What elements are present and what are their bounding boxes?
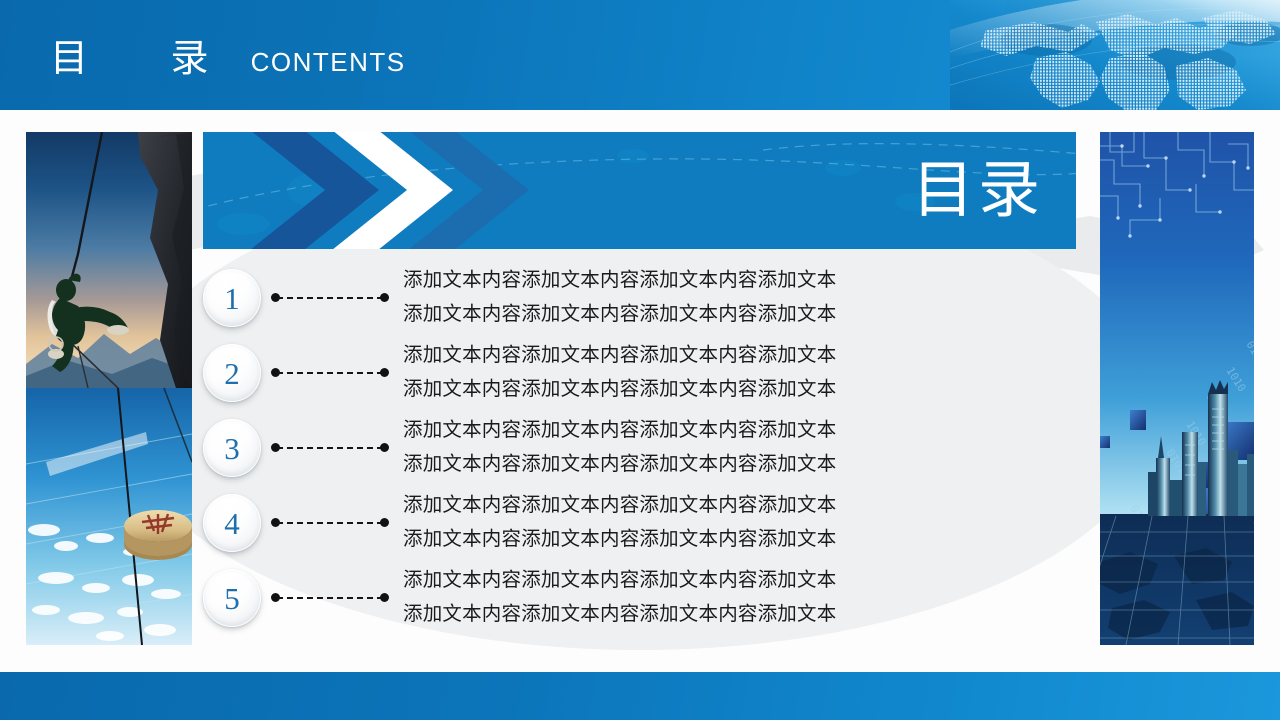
item-number-badge[interactable]: 1 (203, 269, 261, 327)
dashed-connector (271, 517, 389, 529)
item-number-badge[interactable]: 4 (203, 494, 261, 552)
item-text-line1: 添加文本内容添加文本内容添加文本内容添加文本 (403, 339, 836, 373)
technology-city-skyline-graphic: 0101 1010 0101 1010 0101 1010 0101 (1100, 132, 1254, 645)
section-banner: 目录 (203, 132, 1076, 249)
banner-title: 目录 (912, 160, 1044, 222)
item-text-line2: 添加文本内容添加文本内容添加文本内容添加文本 (403, 298, 836, 332)
connector-dot-right (380, 518, 389, 527)
contents-list: 1 添加文本内容添加文本内容添加文本内容添加文本 添加文本内容添加文本内容添加文… (203, 258, 1083, 646)
rock-climber-and-sky-photo (26, 132, 192, 645)
connector-dash (277, 597, 383, 599)
item-number-badge[interactable]: 2 (203, 344, 261, 402)
connector-dash (277, 372, 383, 374)
slide-canvas: 目 录 CONTENTS (0, 0, 1280, 720)
item-text-line1: 添加文本内容添加文本内容添加文本内容添加文本 (403, 264, 836, 298)
slide-footer (0, 672, 1280, 720)
page-title: 目 录 CONTENTS (50, 40, 406, 78)
item-text-line1: 添加文本内容添加文本内容添加文本内容添加文本 (403, 564, 836, 598)
connector-dot-right (380, 293, 389, 302)
page-title-en: CONTENTS (251, 47, 406, 77)
connector-dash (277, 447, 383, 449)
item-text-line1: 添加文本内容添加文本内容添加文本内容添加文本 (403, 414, 836, 448)
item-text-line2: 添加文本内容添加文本内容添加文本内容添加文本 (403, 373, 836, 407)
dashed-connector (271, 592, 389, 604)
item-text-block: 添加文本内容添加文本内容添加文本内容添加文本 添加文本内容添加文本内容添加文本内… (403, 264, 836, 332)
dashed-connector (271, 367, 389, 379)
item-text-line2: 添加文本内容添加文本内容添加文本内容添加文本 (403, 448, 836, 482)
slide-header: 目 录 CONTENTS (0, 0, 1280, 110)
item-text-line2: 添加文本内容添加文本内容添加文本内容添加文本 (403, 598, 836, 632)
list-item[interactable]: 3 添加文本内容添加文本内容添加文本内容添加文本 添加文本内容添加文本内容添加文… (203, 410, 836, 486)
item-number-badge[interactable]: 5 (203, 569, 261, 627)
connector-dot-right (380, 593, 389, 602)
item-text-block: 添加文本内容添加文本内容添加文本内容添加文本 添加文本内容添加文本内容添加文本内… (403, 414, 836, 482)
connector-dash (277, 297, 383, 299)
list-item[interactable]: 4 添加文本内容添加文本内容添加文本内容添加文本 添加文本内容添加文本内容添加文… (203, 485, 836, 561)
dashed-connector (271, 292, 389, 304)
list-item[interactable]: 5 添加文本内容添加文本内容添加文本内容添加文本 添加文本内容添加文本内容添加文… (203, 560, 836, 636)
list-item[interactable]: 2 添加文本内容添加文本内容添加文本内容添加文本 添加文本内容添加文本内容添加文… (203, 335, 836, 411)
connector-dash (277, 522, 383, 524)
item-number-badge[interactable]: 3 (203, 419, 261, 477)
item-text-block: 添加文本内容添加文本内容添加文本内容添加文本 添加文本内容添加文本内容添加文本内… (403, 339, 836, 407)
item-text-block: 添加文本内容添加文本内容添加文本内容添加文本 添加文本内容添加文本内容添加文本内… (403, 489, 836, 557)
item-text-line2: 添加文本内容添加文本内容添加文本内容添加文本 (403, 523, 836, 557)
digital-world-globe-graphic (950, 0, 1280, 110)
item-text-block: 添加文本内容添加文本内容添加文本内容添加文本 添加文本内容添加文本内容添加文本内… (403, 564, 836, 632)
item-text-line1: 添加文本内容添加文本内容添加文本内容添加文本 (403, 489, 836, 523)
connector-dot-right (380, 368, 389, 377)
connector-dot-right (380, 443, 389, 452)
list-item[interactable]: 1 添加文本内容添加文本内容添加文本内容添加文本 添加文本内容添加文本内容添加文… (203, 260, 836, 336)
dashed-connector (271, 442, 389, 454)
page-title-cn: 目 录 (50, 40, 245, 78)
